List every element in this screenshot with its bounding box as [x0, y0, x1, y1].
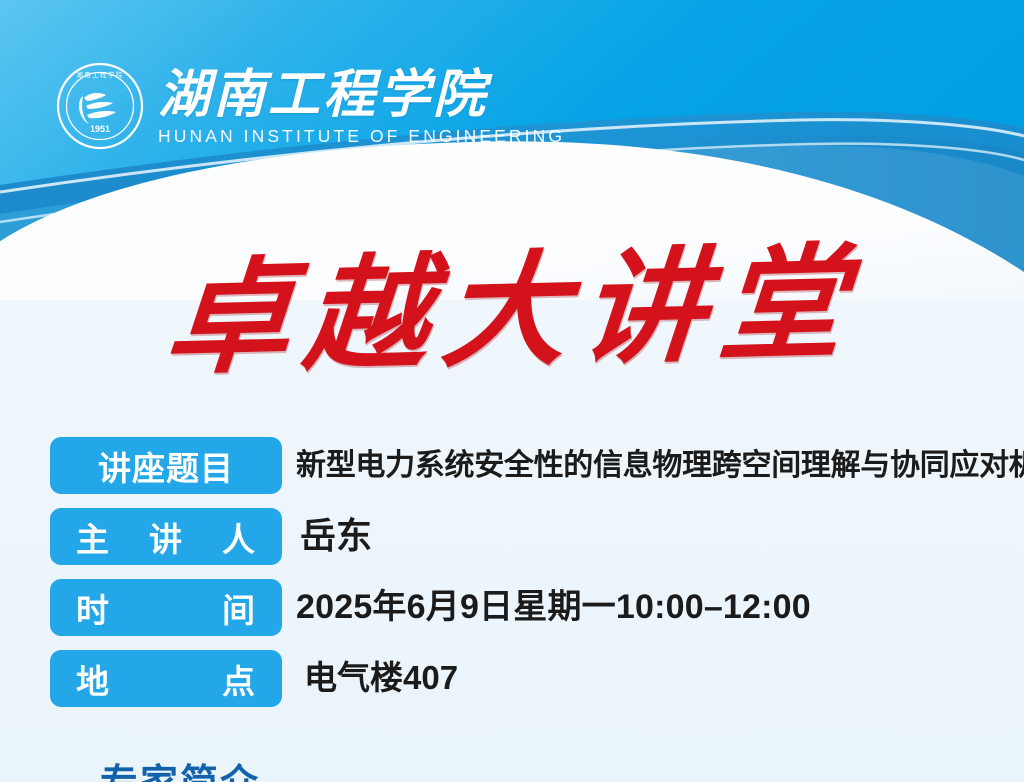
- info-row: 时间2025年6月9日星期一10:00–12:00: [50, 579, 1010, 636]
- lecture-info-list: 讲座题目新型电力系统安全性的信息物理跨空间理解与协同应对机制主讲人岳东时间202…: [50, 437, 1010, 707]
- expert-bio-heading: 专家简介: [100, 752, 260, 782]
- info-value: 电气楼407: [304, 660, 458, 697]
- seal-ring-text-cn: 湖南工程学院: [76, 70, 123, 79]
- university-seal-icon: 1951 湖南工程学院: [56, 62, 144, 150]
- seal-year: 1951: [90, 124, 110, 134]
- info-label-char: 讲: [149, 513, 183, 561]
- info-label-char: 人: [222, 513, 256, 561]
- info-value: 新型电力系统安全性的信息物理跨空间理解与协同应对机制: [296, 449, 1024, 483]
- header-banner: [0, 0, 1024, 300]
- info-label-badge: 主讲人: [50, 508, 282, 565]
- info-label-badge: 地点: [50, 650, 282, 707]
- university-name-cn: 湖南工程学院: [158, 67, 565, 122]
- info-value: 岳东: [300, 516, 372, 556]
- info-row: 地点电气楼407: [50, 650, 1010, 707]
- header-wave-graphic: [0, 0, 1024, 300]
- info-row: 主讲人岳东: [50, 508, 1010, 565]
- seal-svg: 1951 湖南工程学院: [56, 62, 144, 150]
- university-name-en: HUNAN INSTITUTE OF ENGINEERING: [158, 126, 565, 147]
- lecture-poster: 1951 湖南工程学院 湖南工程学院 HUNAN INSTITUTE OF EN…: [0, 0, 1024, 782]
- info-label-char: 间: [222, 584, 256, 632]
- brand-lockup: 1951 湖南工程学院 湖南工程学院 HUNAN INSTITUTE OF EN…: [56, 62, 565, 150]
- info-label-char: 时: [76, 584, 110, 632]
- info-label-badge: 时间: [50, 579, 282, 636]
- info-label-char: 地: [76, 655, 110, 703]
- info-label-badge: 讲座题目: [50, 437, 282, 494]
- info-label-char: 点: [222, 655, 256, 703]
- info-value: 2025年6月9日星期一10:00–12:00: [296, 588, 811, 626]
- brand-text: 湖南工程学院 HUNAN INSTITUTE OF ENGINEERING: [158, 65, 565, 146]
- info-row: 讲座题目新型电力系统安全性的信息物理跨空间理解与协同应对机制: [50, 437, 1010, 494]
- info-label-char: 主: [76, 513, 110, 561]
